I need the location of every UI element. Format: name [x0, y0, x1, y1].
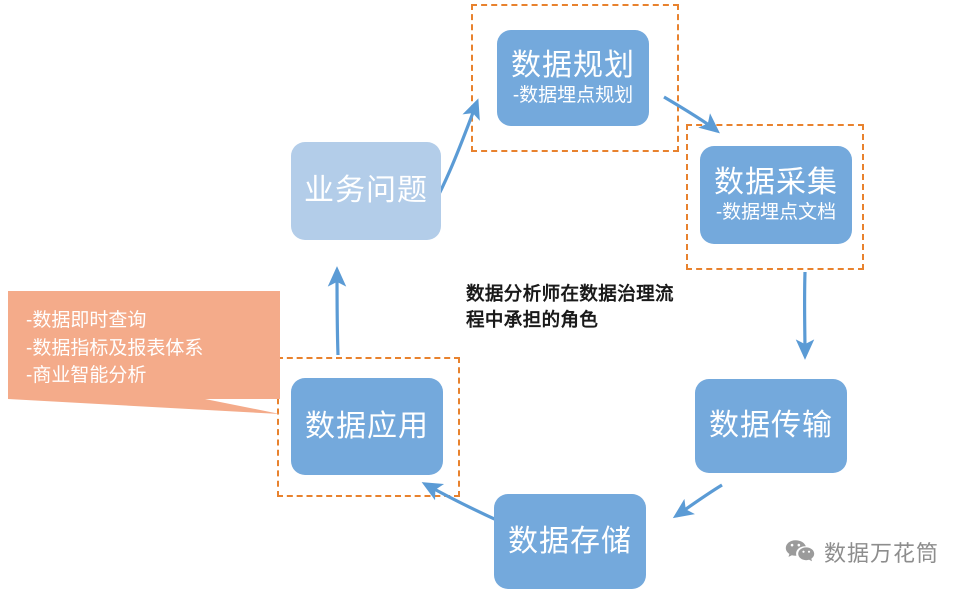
- callout-item: -商业智能分析: [26, 362, 203, 390]
- callout-item: -数据指标及报表体系: [26, 335, 203, 363]
- diagram-canvas: 业务问题 数据规划 -数据埋点规划 数据采集 -数据埋点文档 数据传输 数据存储…: [0, 0, 976, 596]
- watermark: 数据万花筒: [785, 536, 939, 568]
- callout-data-application-details: -数据即时查询 -数据指标及报表体系 -商业智能分析: [8, 291, 280, 399]
- callout-item: -数据即时查询: [26, 307, 203, 335]
- wechat-icon: [785, 539, 815, 565]
- watermark-text: 数据万花筒: [824, 536, 939, 568]
- diagram-caption: 数据分析师在数据治理流程中承担的角色: [466, 281, 678, 334]
